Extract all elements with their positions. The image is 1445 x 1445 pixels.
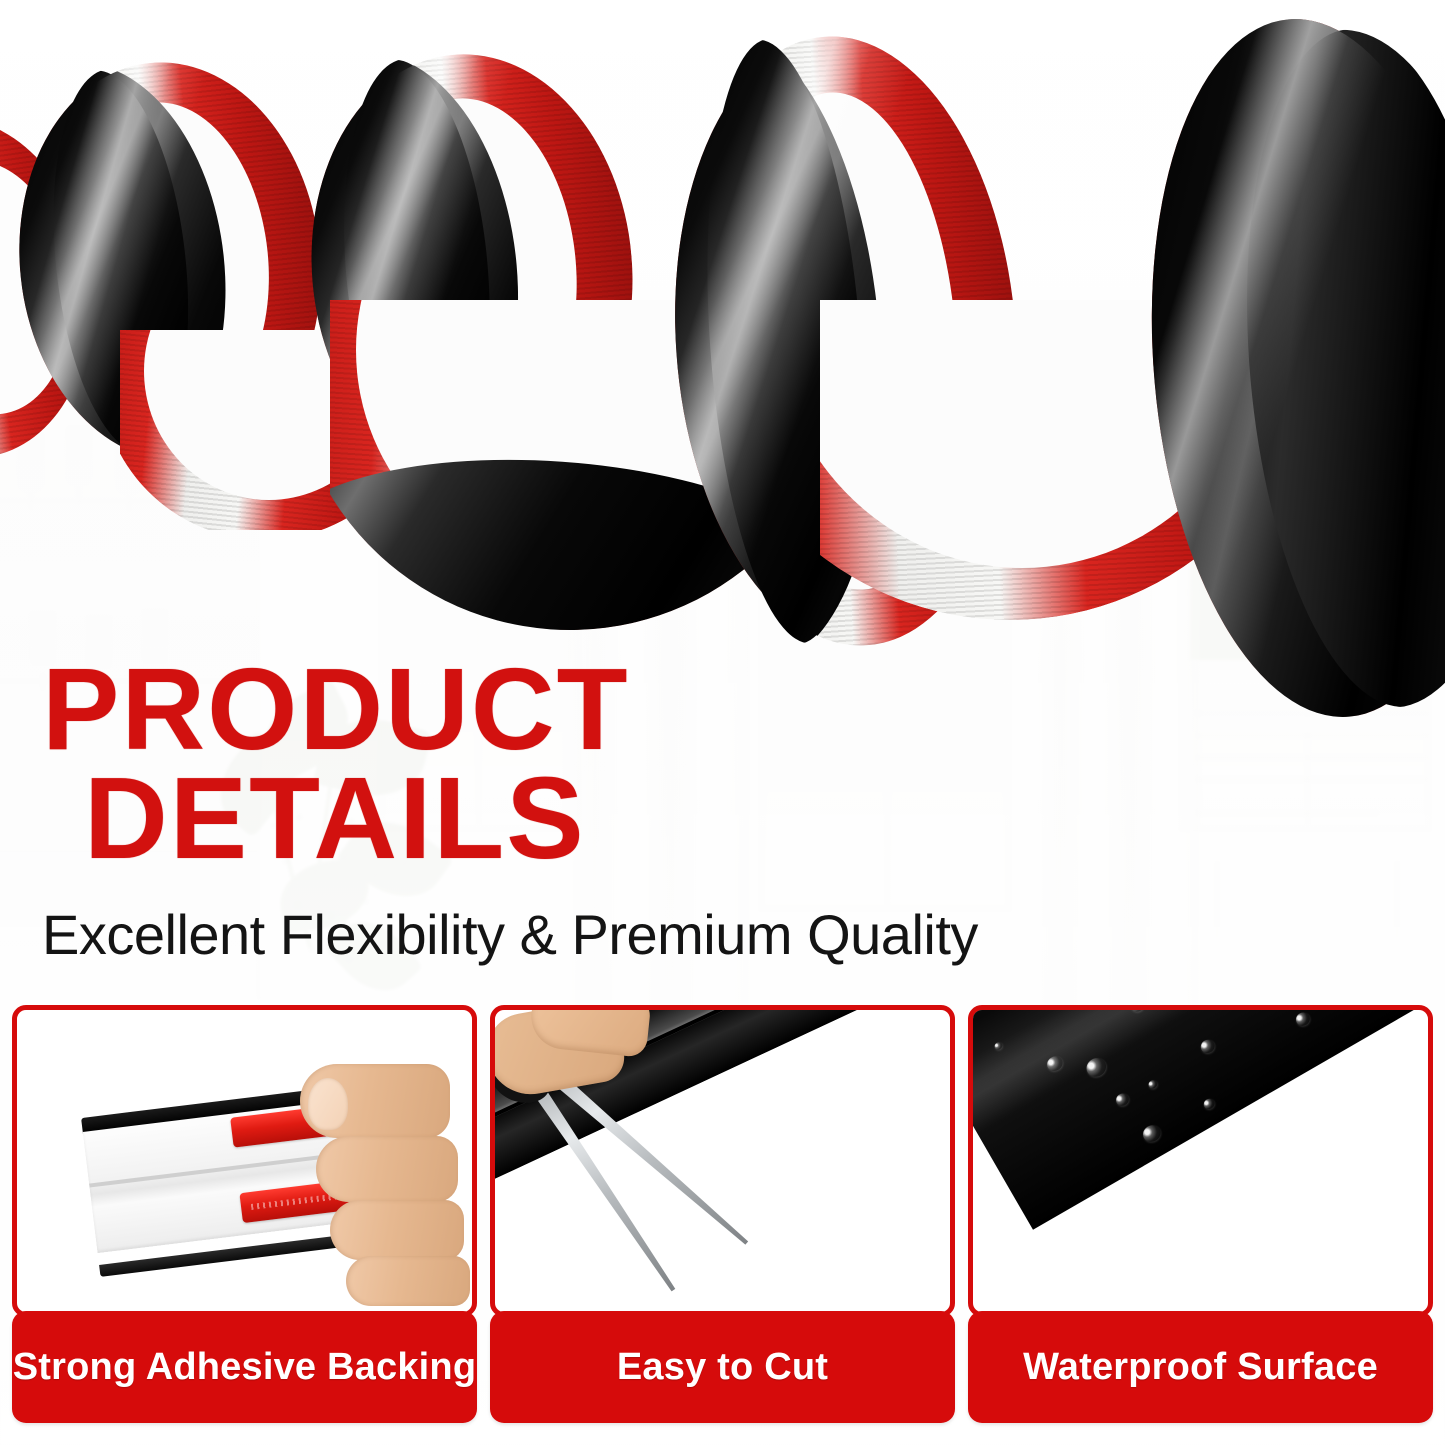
product-detail-image: PRODUCT DETAILS Excellent Flexibility & …: [0, 0, 1445, 1445]
hand-illustration: [286, 1054, 476, 1294]
tape-loop-4: [1154, 18, 1445, 718]
page-title-line-1: PRODUCT: [42, 655, 1162, 764]
scissors-icon: [501, 1014, 831, 1314]
feature-photo-easy-to-cut: [490, 1005, 955, 1317]
feature-card-easy-to-cut[interactable]: Easy to Cut: [490, 1005, 955, 1425]
page-subtitle: Excellent Flexibility & Premium Quality: [42, 907, 1162, 963]
page-title-line-2: DETAILS: [42, 764, 1162, 873]
water-droplet: [1294, 1010, 1313, 1028]
hero-coiled-tape: [0, 0, 1445, 700]
water-droplet: [1114, 1091, 1131, 1108]
feature-card-strong-adhesive-backing[interactable]: Strong Adhesive Backing: [12, 1005, 477, 1425]
water-droplet: [1202, 1097, 1217, 1111]
feature-card-waterproof-surface[interactable]: Waterproof Surface: [968, 1005, 1433, 1425]
feature-caption-label: Strong Adhesive Backing: [13, 1346, 477, 1389]
water-droplet: [1198, 1037, 1217, 1055]
feature-caption-easy-to-cut: Easy to Cut: [490, 1311, 955, 1423]
feature-caption-strong-adhesive-backing: Strong Adhesive Backing: [12, 1311, 477, 1423]
feature-caption-waterproof-surface: Waterproof Surface: [968, 1311, 1433, 1423]
feature-card-list: Strong Adhesive Backing: [12, 1005, 1433, 1425]
waterproof-tape-surface: [968, 1005, 1433, 1230]
feature-caption-label: Waterproof Surface: [1023, 1346, 1378, 1389]
feature-photo-waterproof-surface: [968, 1005, 1433, 1317]
feature-photo-strong-adhesive-backing: [12, 1005, 477, 1317]
water-droplet: [1140, 1122, 1164, 1145]
feature-caption-label: Easy to Cut: [617, 1346, 828, 1389]
headings-block: PRODUCT DETAILS Excellent Flexibility & …: [42, 655, 1162, 963]
scissors-blade-lower: [521, 1069, 679, 1294]
water-droplet: [1147, 1079, 1159, 1090]
